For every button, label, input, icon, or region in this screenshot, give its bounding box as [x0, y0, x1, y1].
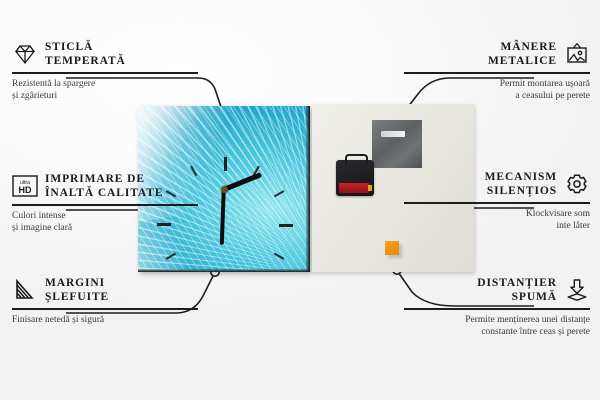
glass-right-edge — [306, 106, 310, 272]
feature-mecanism-silentios: MECANISM SILENȚIOS Klockvisare som inte … — [390, 170, 590, 232]
feature-sub-line2: și imagine clară — [12, 222, 212, 234]
divider — [12, 204, 198, 206]
infographic-canvas: STICLĂ TEMPERATĂ Rezistentă la spargere … — [0, 0, 600, 400]
feature-title-line2: ȘLEFUITE — [45, 290, 109, 304]
feature-title-line1: MÂNERE — [488, 40, 557, 54]
ultra-hd-badge-icon: ultra HD — [12, 173, 38, 199]
divider — [12, 308, 198, 310]
feature-sub-line1: Culori intense — [12, 210, 212, 222]
glass-bottom-edge — [138, 269, 310, 272]
feature-manere-metalice: MÂNERE METALICE Permit montarea ușoară a… — [390, 40, 590, 102]
feature-title-line2: ÎNALTĂ CALITATE — [45, 186, 163, 200]
feature-sub-line2: și zgârieturi — [12, 90, 212, 102]
feature-sub-line1: Permite menținerea unei distanțe — [390, 314, 590, 326]
feature-title-line2: TEMPERATĂ — [45, 54, 126, 68]
feature-distantier-spuma: DISTANȚIER SPUMĂ Permite menținerea unei… — [390, 276, 590, 338]
feature-sticla-temperata: STICLĂ TEMPERATĂ Rezistentă la spargere … — [12, 40, 212, 102]
foam-spacer — [385, 241, 399, 255]
divider — [404, 72, 590, 74]
feature-title-line2: METALICE — [488, 54, 557, 68]
feature-title-line2: SILENȚIOS — [485, 184, 557, 198]
feature-title-line1: MECANISM — [485, 170, 557, 184]
feature-sub-line2: a ceasului pe perete — [390, 90, 590, 102]
feature-sub-line2: inte låter — [390, 220, 590, 232]
quartz-mechanism — [336, 160, 374, 196]
feature-title-line1: DISTANȚIER — [477, 276, 557, 290]
divider — [404, 202, 590, 204]
feature-sub-line1: Klockvisare som — [390, 208, 590, 220]
down-arrow-foam-icon — [564, 277, 590, 303]
divider — [404, 308, 590, 310]
feature-sub-line1: Rezistentă la spargere — [12, 78, 212, 90]
battery — [339, 183, 369, 193]
divider — [12, 72, 198, 74]
feature-title-line1: STICLĂ — [45, 40, 126, 54]
svg-text:HD: HD — [19, 185, 32, 195]
feature-title-line1: MARGINI — [45, 276, 109, 290]
picture-frame-hanger-icon — [564, 41, 590, 67]
diamond-icon — [12, 41, 38, 67]
feature-sub-line1: Permit montarea ușoară — [390, 78, 590, 90]
gear-icon — [564, 171, 590, 197]
metal-hanger-plate — [372, 120, 422, 168]
beveled-edge-icon — [12, 277, 38, 303]
feature-sub-line2: constante între ceas și perete — [390, 326, 590, 338]
feature-imprimare-hd: ultra HD IMPRIMARE DE ÎNALTĂ CALITATE Cu… — [12, 172, 212, 234]
feature-title-line2: SPUMĂ — [477, 290, 557, 304]
hand-center-cap — [221, 186, 228, 193]
feature-sub-line1: Finisare netedă și sigură — [12, 314, 212, 326]
feature-title-line1: IMPRIMARE DE — [45, 172, 163, 186]
feature-margini-slefuite: MARGINI ȘLEFUITE Finisare netedă și sigu… — [12, 276, 212, 326]
